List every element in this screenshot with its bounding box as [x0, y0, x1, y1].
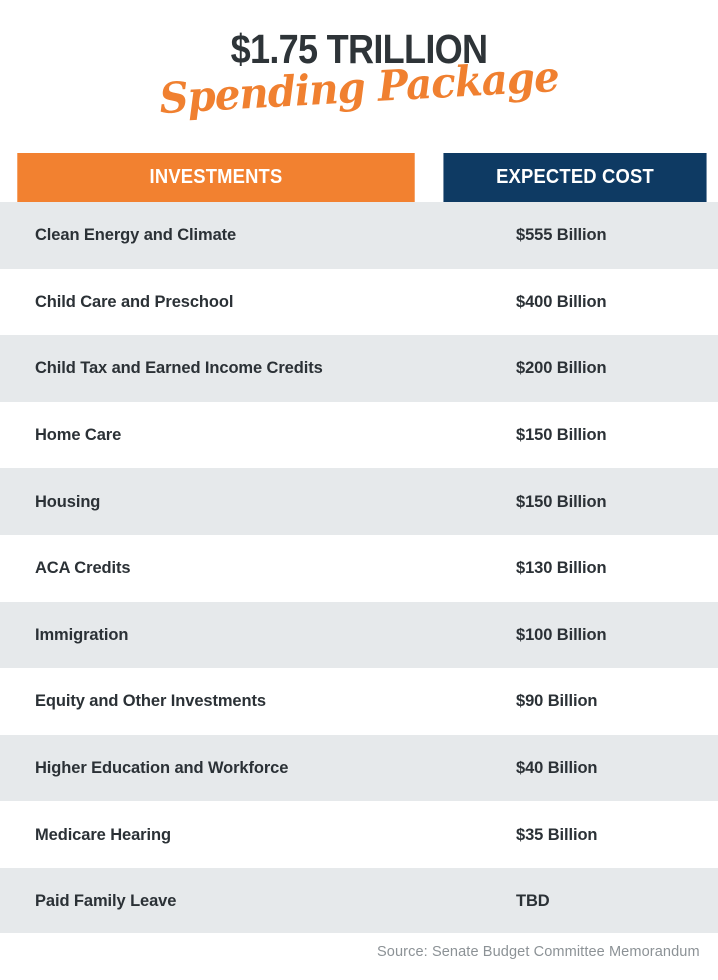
cell-investment: Housing [35, 492, 100, 512]
infographic-page: $1.75 TRILLION Spending Package INVESTME… [0, 0, 718, 980]
cell-investment: Higher Education and Workforce [35, 758, 288, 778]
cell-investment: Paid Family Leave [35, 891, 176, 911]
source-note: Source: Senate Budget Committee Memorand… [377, 943, 700, 960]
cell-investment: Clean Energy and Climate [35, 225, 236, 245]
cell-cost: $200 Billion [516, 358, 606, 378]
cell-investment: Equity and Other Investments [35, 691, 266, 711]
table-row: Home Care$150 Billion [0, 402, 718, 469]
cell-cost: $130 Billion [516, 558, 606, 578]
cell-cost: $150 Billion [516, 425, 606, 445]
table-row: Medicare Hearing$35 Billion [0, 801, 718, 868]
cell-cost: $555 Billion [516, 225, 606, 245]
table-row: Child Tax and Earned Income Credits$200 … [0, 335, 718, 402]
cell-cost: TBD [516, 891, 550, 911]
cell-investment: Home Care [35, 425, 121, 445]
cell-cost: $400 Billion [516, 292, 606, 312]
cell-cost: $35 Billion [516, 825, 597, 845]
table-row: ACA Credits$130 Billion [0, 535, 718, 602]
cell-cost: $150 Billion [516, 492, 606, 512]
table-row: Equity and Other Investments$90 Billion [0, 668, 718, 735]
cell-cost: $90 Billion [516, 691, 597, 711]
table-body: Clean Energy and Climate$555 BillionChil… [0, 202, 718, 935]
cell-cost: $40 Billion [516, 758, 597, 778]
table-header: INVESTMENTS EXPECTED COST [0, 153, 718, 202]
cell-investment: Medicare Hearing [35, 825, 171, 845]
cell-investment: ACA Credits [35, 558, 130, 578]
table-row: Higher Education and Workforce$40 Billio… [0, 735, 718, 802]
table-footer: Source: Senate Budget Committee Memorand… [0, 933, 718, 980]
column-header-investments: INVESTMENTS [17, 153, 414, 202]
cell-cost: $100 Billion [516, 625, 606, 645]
table-row: Clean Energy and Climate$555 Billion [0, 202, 718, 269]
cell-investment: Child Care and Preschool [35, 292, 233, 312]
cell-investment: Immigration [35, 625, 128, 645]
table-row: Child Care and Preschool$400 Billion [0, 269, 718, 336]
table-row: Paid Family LeaveTBD [0, 868, 718, 935]
table-row: Housing$150 Billion [0, 468, 718, 535]
table-row: Immigration$100 Billion [0, 602, 718, 669]
column-header-expected-cost: EXPECTED COST [443, 153, 706, 202]
cell-investment: Child Tax and Earned Income Credits [35, 358, 323, 378]
title-block: $1.75 TRILLION Spending Package [0, 0, 718, 153]
